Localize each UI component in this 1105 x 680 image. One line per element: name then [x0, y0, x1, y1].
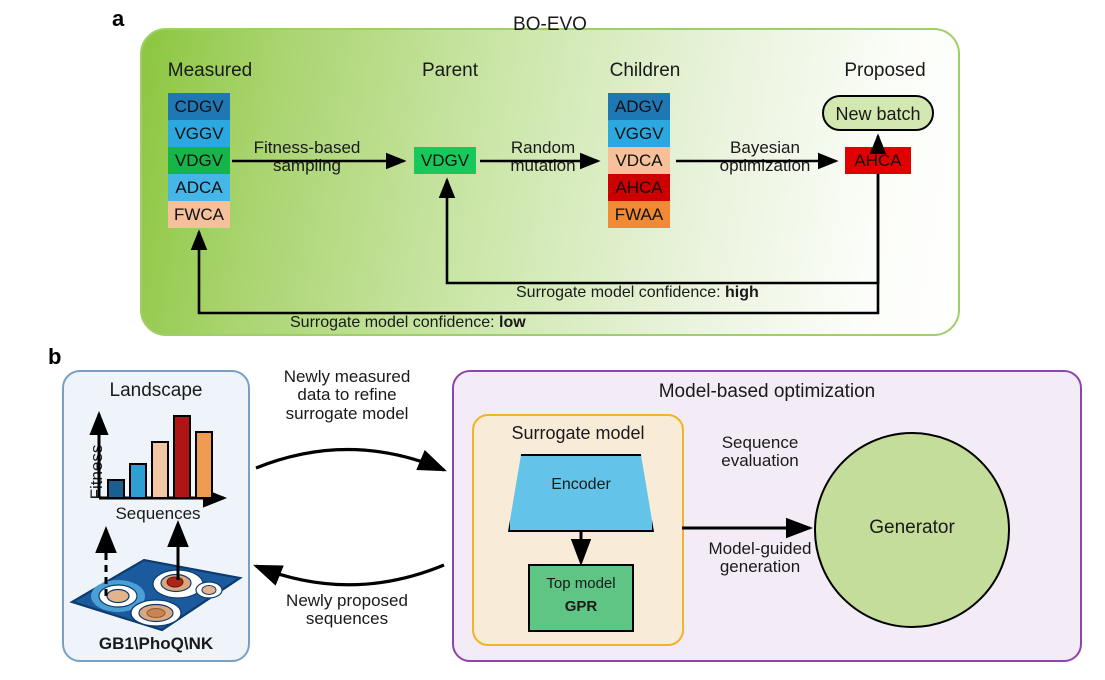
- top-model-type: GPR: [530, 598, 632, 615]
- generator-label: Generator: [814, 517, 1010, 539]
- model-based-optimization-container: Model-based optimization Surrogate model…: [452, 370, 1082, 662]
- label-model-guided-generation: Model-guided generation: [686, 540, 834, 577]
- surrogate-model-container: Surrogate model Encoder Top model GPR: [472, 414, 684, 646]
- label-line-2: generation: [686, 558, 834, 576]
- label-line-1: Model-guided: [686, 540, 834, 558]
- surrogate-model-title: Surrogate model: [474, 423, 682, 444]
- label-line-1: Sequence: [698, 434, 822, 452]
- encoder-to-topmodel-arrow: [566, 532, 596, 566]
- encoder-label: Encoder: [508, 476, 654, 494]
- surrogate-to-generator-arrow: [682, 512, 822, 542]
- top-model-box[interactable]: Top model GPR: [528, 564, 634, 632]
- label-line-2: evaluation: [698, 452, 822, 470]
- mbo-title: Model-based optimization: [454, 381, 1080, 403]
- label-sequence-evaluation: Sequence evaluation: [698, 434, 822, 471]
- top-model-label: Top model: [530, 575, 632, 592]
